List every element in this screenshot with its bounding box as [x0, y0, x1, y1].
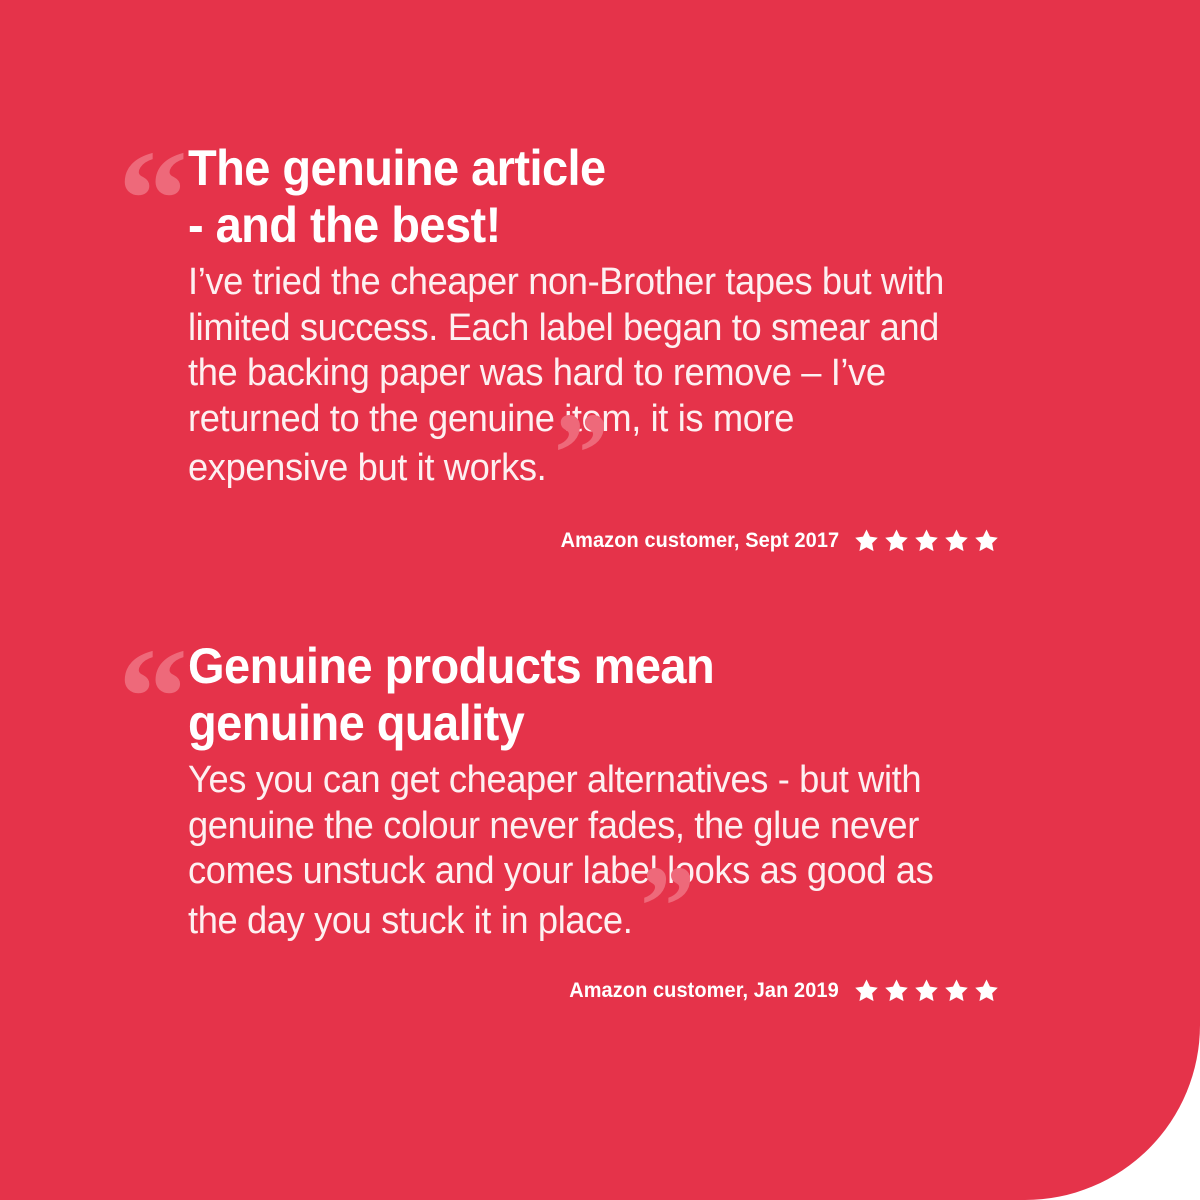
open-quote-mark-icon: “ [118, 144, 194, 230]
testimonial-1-star-rating [853, 528, 1000, 554]
testimonial-2-star-rating [853, 978, 1000, 1004]
testimonial-2-body: Yes you can get cheaper alternatives - b… [188, 758, 963, 944]
star-icon [883, 978, 910, 1004]
star-icon [973, 528, 1000, 554]
star-icon [913, 528, 940, 554]
star-icon [973, 978, 1000, 1004]
star-icon [883, 528, 910, 554]
testimonial-1-attribution-text: Amazon customer, Sept 2017 [560, 529, 839, 553]
open-quote-glyph: “ [118, 130, 194, 270]
testimonial-2-attribution: Amazon customer, Jan 2019 [555, 978, 1000, 1004]
star-icon [853, 978, 880, 1004]
star-icon [853, 528, 880, 554]
open-quote-mark-icon: “ [118, 642, 194, 728]
testimonial-1-content: The genuine article - and the best! I’ve… [188, 140, 1000, 492]
star-icon [943, 978, 970, 1004]
testimonial-1-body: I’ve tried the cheaper non-Brother tapes… [188, 260, 963, 492]
star-icon [913, 978, 940, 1004]
testimonial-2-heading: Genuine products mean genuine quality [188, 638, 951, 752]
testimonial-2-attribution-text: Amazon customer, Jan 2019 [569, 979, 839, 1003]
testimonial-2-body-text: Yes you can get cheaper alternatives - b… [188, 759, 933, 942]
testimonial-card: “ The genuine article - and the best! I’… [0, 0, 1200, 1200]
open-quote-glyph: “ [118, 628, 194, 768]
testimonial-1-heading: The genuine article - and the best! [188, 140, 951, 254]
star-icon [943, 528, 970, 554]
testimonial-1-attribution: Amazon customer, Sept 2017 [546, 528, 1000, 554]
testimonial-2-content: Genuine products mean genuine quality Ye… [188, 638, 1000, 944]
